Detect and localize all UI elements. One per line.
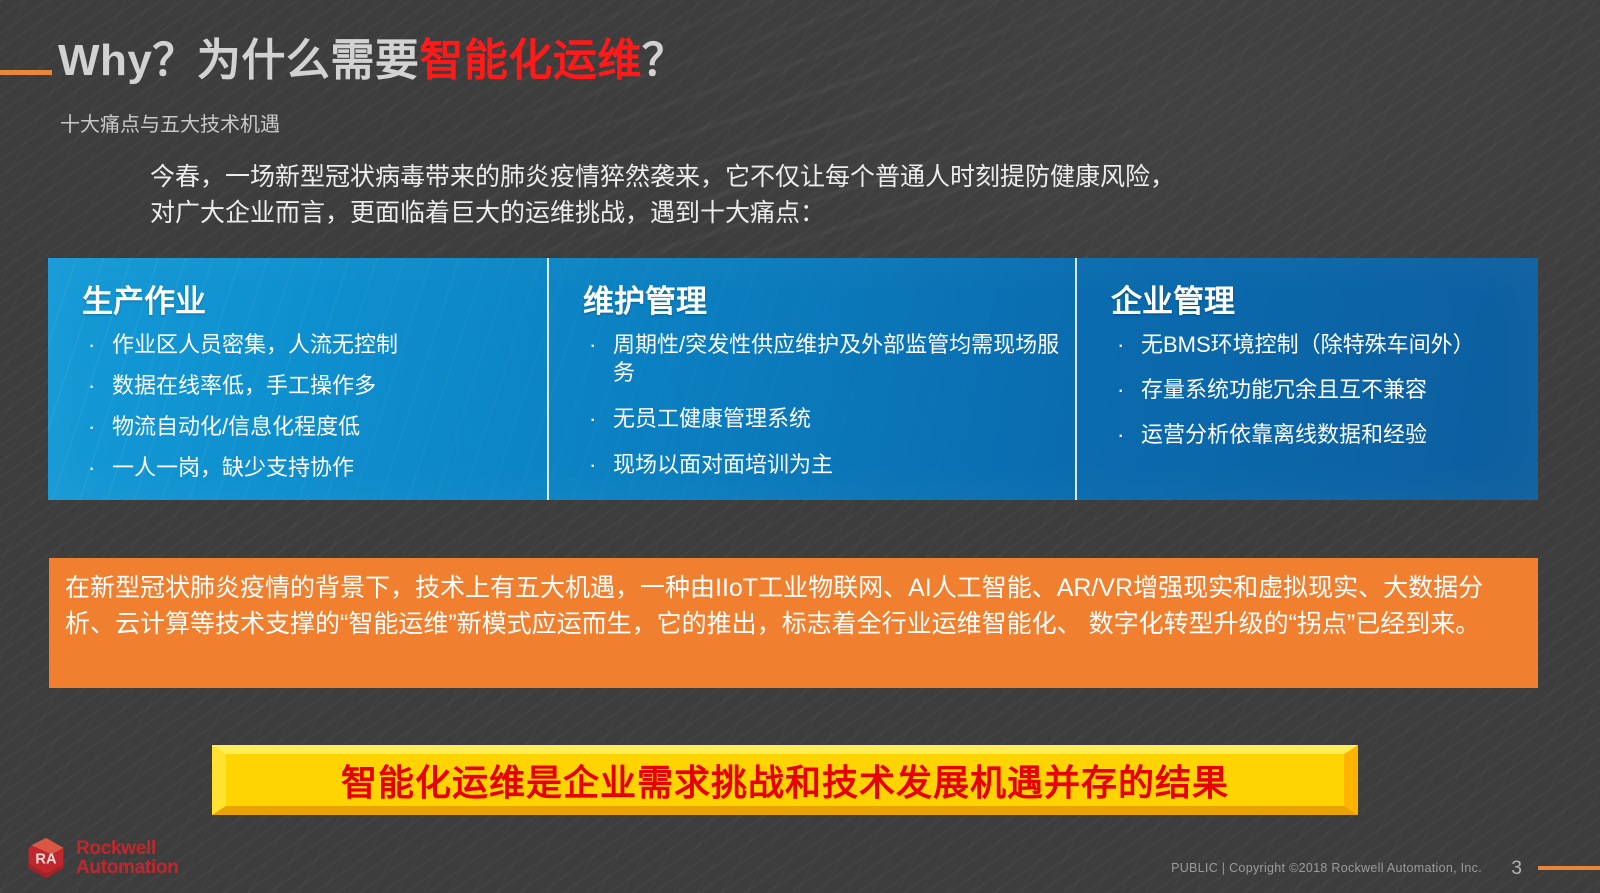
conclusion-text: 智能化运维是企业需求挑战和技术发展机遇并存的结果 xyxy=(341,754,1229,806)
pain-column-heading: 企业管理 xyxy=(1111,276,1524,321)
bullet-icon: · xyxy=(88,413,95,441)
page-subtitle: 十大痛点与五大技术机遇 xyxy=(60,108,280,137)
page-title: Why？为什么需要智能化运维？ xyxy=(58,38,686,84)
bullet-icon: · xyxy=(88,454,95,482)
intro-line-1: 今春，一场新型冠状病毒带来的肺炎疫情猝然袭来，它不仅让每个普通人时刻提防健康风险… xyxy=(150,163,1175,191)
pain-item-list: · 作业区人员密集，人流无控制 · 数据在线率低，手工操作多 · 物流自动化/信… xyxy=(82,331,533,483)
conclusion-banner: 智能化运维是企业需求挑战和技术发展机遇并存的结果 xyxy=(212,745,1358,815)
pain-item-text: 现场以面对面培训为主 xyxy=(613,452,833,477)
pain-list-item: · 无员工健康管理系统 xyxy=(583,405,1061,433)
pain-column-heading: 生产作业 xyxy=(82,276,533,321)
intro-line-2: 对广大企业而言，更面临着巨大的运维挑战，遇到十大痛点： xyxy=(150,196,1410,232)
pain-list-item: · 一人一岗，缺少支持协作 xyxy=(82,454,533,482)
bullet-icon: · xyxy=(88,372,95,400)
footer-accent-dash xyxy=(1538,866,1600,870)
pain-list-item: · 运营分析依靠离线数据和经验 xyxy=(1111,421,1524,449)
pain-item-text: 周期性/突发性供应维护及外部监管均需现场服务 xyxy=(613,332,1059,385)
page-title-prefix: Why？为什么需要 xyxy=(58,36,419,85)
pain-list-item: · 数据在线率低，手工操作多 xyxy=(82,372,533,400)
pain-item-text: 数据在线率低，手工操作多 xyxy=(112,373,376,398)
pain-list-item: · 周期性/突发性供应维护及外部监管均需现场服务 xyxy=(583,331,1061,387)
pain-item-text: 无员工健康管理系统 xyxy=(613,406,811,431)
pain-item-text: 一人一岗，缺少支持协作 xyxy=(112,455,354,480)
pain-column-maintenance: 维护管理 · 周期性/突发性供应维护及外部监管均需现场服务 · 无员工健康管理系… xyxy=(547,258,1075,500)
slide-canvas: Why？为什么需要智能化运维？ 十大痛点与五大技术机遇 今春，一场新型冠状病毒带… xyxy=(0,0,1600,893)
pain-item-text: 物流自动化/信息化程度低 xyxy=(112,414,360,439)
page-title-suffix: ？ xyxy=(642,36,687,85)
pain-column-enterprise: 企业管理 · 无BMS环境控制（除特殊车间外） · 存量系统功能冗余且互不兼容 … xyxy=(1075,258,1538,500)
pain-item-text: 运营分析依靠离线数据和经验 xyxy=(1141,422,1427,447)
opportunity-panel: 在新型冠状肺炎疫情的背景下，技术上有五大机遇，一种由IIoT工业物联网、AI人工… xyxy=(49,558,1538,688)
logo-line-1: Rockwell xyxy=(76,838,156,859)
bullet-icon: · xyxy=(589,331,596,359)
title-accent-dash xyxy=(0,70,52,75)
ra-hexagon-icon: RA xyxy=(24,836,68,880)
bullet-icon: · xyxy=(1117,421,1124,449)
pain-item-text: 作业区人员密集，人流无控制 xyxy=(112,332,398,357)
pain-list-item: · 现场以面对面培训为主 xyxy=(583,451,1061,479)
bullet-icon: · xyxy=(589,405,596,433)
pain-list-item: · 存量系统功能冗余且互不兼容 xyxy=(1111,376,1524,404)
bullet-icon: · xyxy=(1117,331,1124,359)
pain-item-text: 无BMS环境控制（除特殊车间外） xyxy=(1141,332,1475,357)
svg-text:RA: RA xyxy=(35,852,57,868)
bullet-icon: · xyxy=(88,331,95,359)
intro-paragraph: 今春，一场新型冠状病毒带来的肺炎疫情猝然袭来，它不仅让每个普通人时刻提防健康风险… xyxy=(150,160,1410,231)
pain-column-production: 生产作业 · 作业区人员密集，人流无控制 · 数据在线率低，手工操作多 · 物流… xyxy=(48,258,547,500)
page-title-highlight: 智能化运维 xyxy=(419,36,642,85)
pain-list-item: · 作业区人员密集，人流无控制 xyxy=(82,331,533,359)
bullet-icon: · xyxy=(1117,376,1124,404)
copyright-text: PUBLIC | Copyright ©2018 Rockwell Automa… xyxy=(1171,861,1482,875)
logo-wordmark: Rockwell Automation xyxy=(76,839,179,878)
pain-item-list: · 周期性/突发性供应维护及外部监管均需现场服务 · 无员工健康管理系统 · 现… xyxy=(583,331,1061,480)
pain-list-item: · 无BMS环境控制（除特殊车间外） xyxy=(1111,331,1524,359)
pain-column-heading: 维护管理 xyxy=(583,276,1061,321)
page-number: 3 xyxy=(1511,858,1522,880)
pain-item-list: · 无BMS环境控制（除特殊车间外） · 存量系统功能冗余且互不兼容 · 运营分… xyxy=(1111,331,1524,449)
pain-list-item: · 物流自动化/信息化程度低 xyxy=(82,413,533,441)
pain-item-text: 存量系统功能冗余且互不兼容 xyxy=(1141,377,1427,402)
rockwell-automation-logo: RA Rockwell Automation xyxy=(24,836,179,880)
bullet-icon: · xyxy=(589,451,596,479)
pain-points-panel: 生产作业 · 作业区人员密集，人流无控制 · 数据在线率低，手工操作多 · 物流… xyxy=(48,258,1538,500)
logo-line-2: Automation xyxy=(76,857,179,878)
opportunity-text: 在新型冠状肺炎疫情的背景下，技术上有五大机遇，一种由IIoT工业物联网、AI人工… xyxy=(65,574,1483,638)
